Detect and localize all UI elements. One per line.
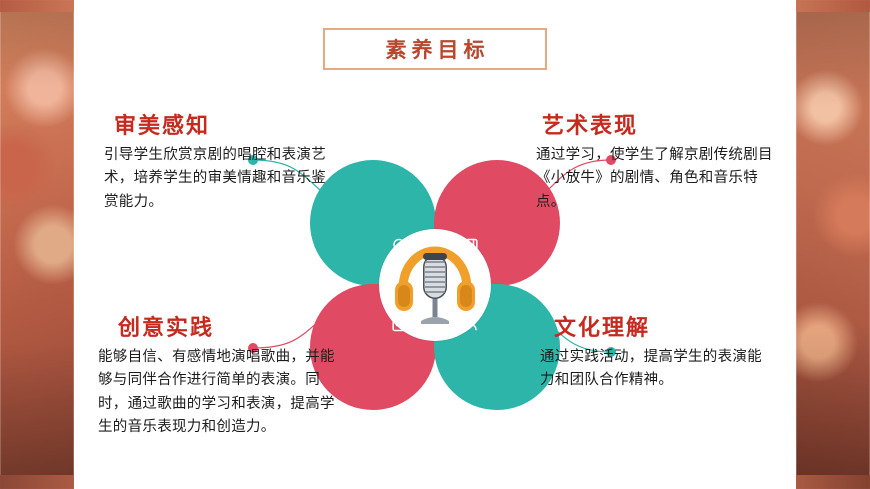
slide-title-box: 素养目标	[323, 28, 547, 70]
block-aesthetic-heading: 审美感知	[114, 108, 336, 140]
block-culture-heading: 文化理解	[554, 310, 776, 342]
block-culture-body: 通过实践活动，提高学生的表演能力和团队合作精神。	[540, 346, 776, 393]
microphone-headphones-icon	[379, 229, 491, 341]
slide: 素养目标	[0, 0, 870, 489]
background-left-decoration	[0, 0, 74, 489]
block-creative-body: 能够自信、有感情地演唱歌曲，并能够与同伴合作进行简单的表演。同时，通过歌曲的学习…	[98, 346, 336, 440]
block-aesthetic-body: 引导学生欣赏京剧的唱腔和表演艺术，培养学生的审美情趣和音乐鉴赏能力。	[104, 144, 336, 214]
page-title: 素养目标	[381, 34, 490, 64]
block-expression-body: 通过学习，使学生了解京剧传统剧目《小放牛》的剧情、角色和音乐特点。	[536, 144, 776, 214]
petal-diagram	[310, 160, 560, 410]
block-expression: 艺术表现 通过学习，使学生了解京剧传统剧目《小放牛》的剧情、角色和音乐特点。	[536, 108, 776, 214]
block-aesthetic: 审美感知 引导学生欣赏京剧的唱腔和表演艺术，培养学生的审美情趣和音乐鉴赏能力。	[104, 108, 336, 214]
block-creative-heading: 创意实践	[118, 310, 336, 342]
block-culture: 文化理解 通过实践活动，提高学生的表演能力和团队合作精神。	[540, 310, 776, 393]
background-right-decoration	[796, 0, 870, 489]
block-creative: 创意实践 能够自信、有感情地演唱歌曲，并能够与同伴合作进行简单的表演。同时，通过…	[98, 310, 336, 440]
block-expression-heading: 艺术表现	[542, 108, 776, 140]
